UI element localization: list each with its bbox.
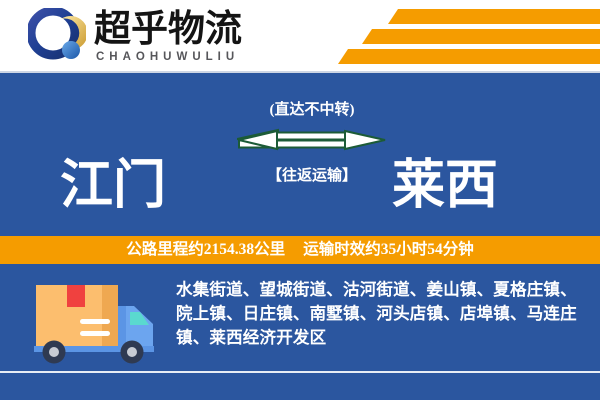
brand-name-en: CHAOHUWULIU: [96, 51, 242, 63]
logistics-route-banner: 超乎物流 CHAOHUWULIU 江门 (直达不中转): [0, 0, 600, 400]
destination-city: 莱西: [392, 160, 498, 213]
direct-note: (直达不中转): [237, 103, 387, 118]
route-middle: (直达不中转) 【往返运输】: [237, 103, 387, 184]
brand-name-cn: 超乎物流: [94, 11, 242, 49]
header-chevron-stripes: [338, 0, 600, 73]
stripe-1: [388, 9, 600, 24]
brand-wordmark: 超乎物流 CHAOHUWULIU: [94, 11, 242, 63]
route-info-inner: 公路里程约2154.38公里 运输时效约35小时54分钟: [126, 242, 473, 258]
route-info-bar: 公路里程约2154.38公里 运输时效约35小时54分钟: [0, 236, 600, 264]
circle-q-logo-icon: [28, 8, 86, 66]
route-section: 江门 (直达不中转) 【往返运输】 莱西: [0, 73, 600, 236]
bottom-strip: [0, 373, 600, 400]
brand-logo: 超乎物流 CHAOHUWULIU: [28, 8, 242, 66]
stripe-2: [362, 29, 600, 44]
duration-text: 运输时效约35小时54分钟: [303, 242, 474, 258]
banner-header: 超乎物流 CHAOHUWULIU: [0, 0, 600, 73]
delivery-truck-icon: [22, 276, 164, 364]
stripe-3: [338, 49, 600, 64]
origin-city: 江门: [60, 160, 166, 213]
coverage-section: 水集街道、望城街道、沽河街道、姜山镇、夏格庄镇、院上镇、日庄镇、南墅镇、河头店镇…: [0, 264, 600, 372]
roundtrip-note: 【往返运输】: [237, 169, 387, 184]
double-headed-arrow-icon: [237, 128, 387, 160]
distance-text: 公路里程约2154.38公里: [126, 242, 285, 258]
coverage-areas-text: 水集街道、望城街道、沽河街道、姜山镇、夏格庄镇、院上镇、日庄镇、南墅镇、河头店镇…: [176, 278, 586, 350]
